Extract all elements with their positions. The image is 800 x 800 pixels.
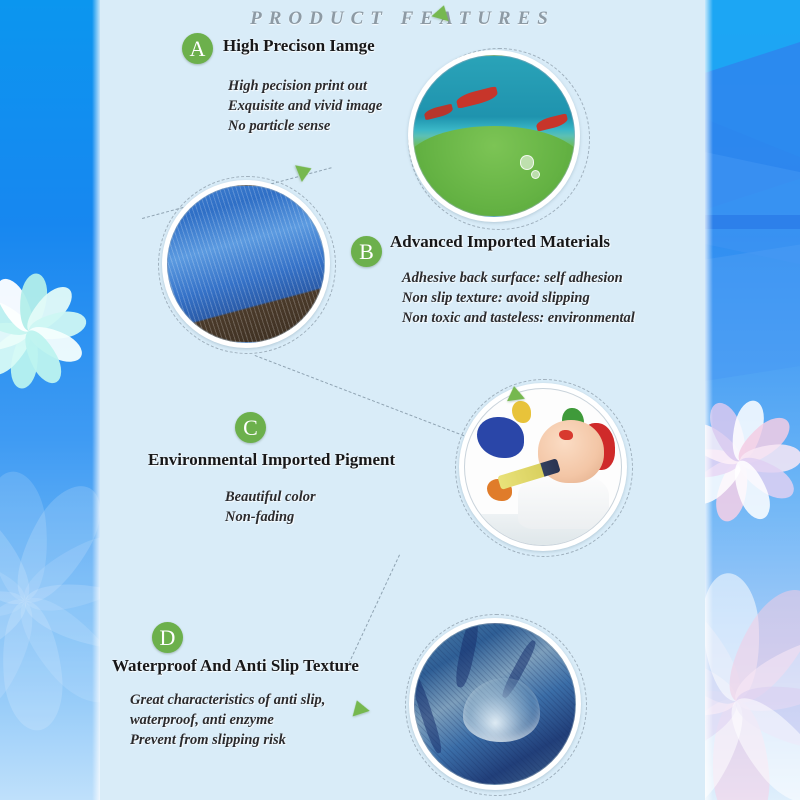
right-decor-panel	[705, 0, 800, 800]
photo-b	[162, 180, 330, 348]
body-c-line-1: Beautiful color	[225, 487, 316, 507]
body-b-line-1: Adhesive back surface: self adhesion	[402, 268, 635, 288]
bubble-1-icon	[520, 155, 534, 169]
heading-c: Environmental Imported Pigment	[148, 450, 395, 470]
badge-c: C	[235, 412, 266, 443]
left-panel-edge	[92, 0, 100, 800]
heading-a: High Precison Iamge	[223, 36, 375, 56]
paint-splat-blue	[477, 417, 524, 458]
body-b-line-2: Non slip texture: avoid slipping	[402, 288, 635, 308]
water-droplet	[463, 678, 540, 742]
left-decor-panel	[0, 0, 100, 800]
facet-shape-5	[705, 234, 800, 385]
heading-b: Advanced Imported Materials	[390, 232, 610, 252]
body-c-line-2: Non-fading	[225, 507, 316, 527]
texture-streak-2	[414, 672, 445, 755]
grass-area	[413, 126, 575, 217]
large-flower-right	[735, 700, 737, 702]
fish-3-icon	[535, 113, 569, 132]
flower-motif-left	[28, 330, 30, 332]
ghost-flower-left	[24, 600, 26, 602]
content-stage: PRODUCT FEATURES A High Precison Iamge H…	[100, 0, 705, 800]
fish-2-icon	[423, 104, 453, 120]
body-d: Great characteristics of anti slip, wate…	[130, 690, 325, 750]
body-d-line-3: Prevent from slipping risk	[130, 730, 325, 750]
arrow-to-photo-d	[348, 698, 369, 717]
page-title: PRODUCT FEATURES	[100, 8, 705, 30]
badge-b: B	[351, 236, 382, 267]
body-a-line-3: No particle sense	[228, 116, 382, 136]
body-a: High pecision print out Exquisite and vi…	[228, 76, 382, 136]
connector-c-to-d	[348, 555, 400, 664]
photo-a	[408, 50, 580, 222]
flower-motif-right	[739, 460, 741, 462]
facet-shape-4	[705, 215, 800, 229]
photo-d-inner	[414, 623, 576, 785]
right-panel-edge	[705, 0, 713, 800]
connector-b-to-c	[255, 355, 464, 436]
arrow-to-photo-c	[505, 385, 525, 401]
badge-d: D	[152, 622, 183, 653]
photo-b-inner	[167, 185, 325, 343]
paint-splat-yellow	[512, 401, 531, 423]
photo-c-inner	[464, 388, 622, 546]
texture-streak-1	[453, 623, 482, 689]
badge-a: A	[182, 33, 213, 64]
photo-d	[409, 618, 581, 790]
body-a-line-1: High pecision print out	[228, 76, 382, 96]
body-b-line-3: Non toxic and tasteless: environmental	[402, 308, 635, 328]
product-features-poster: PRODUCT FEATURES A High Precison Iamge H…	[0, 0, 800, 800]
heading-d: Waterproof And Anti Slip Texture	[112, 656, 359, 676]
body-c: Beautiful color Non-fading	[225, 487, 316, 527]
arrow-to-photo-b	[295, 160, 315, 182]
body-b: Adhesive back surface: self adhesion Non…	[402, 268, 635, 328]
body-d-line-1: Great characteristics of anti slip,	[130, 690, 325, 710]
photo-a-inner	[413, 55, 575, 217]
body-d-line-2: waterproof, anti enzyme	[130, 710, 325, 730]
fish-1-icon	[455, 86, 498, 108]
photo-c	[459, 383, 627, 551]
body-a-line-2: Exquisite and vivid image	[228, 96, 382, 116]
